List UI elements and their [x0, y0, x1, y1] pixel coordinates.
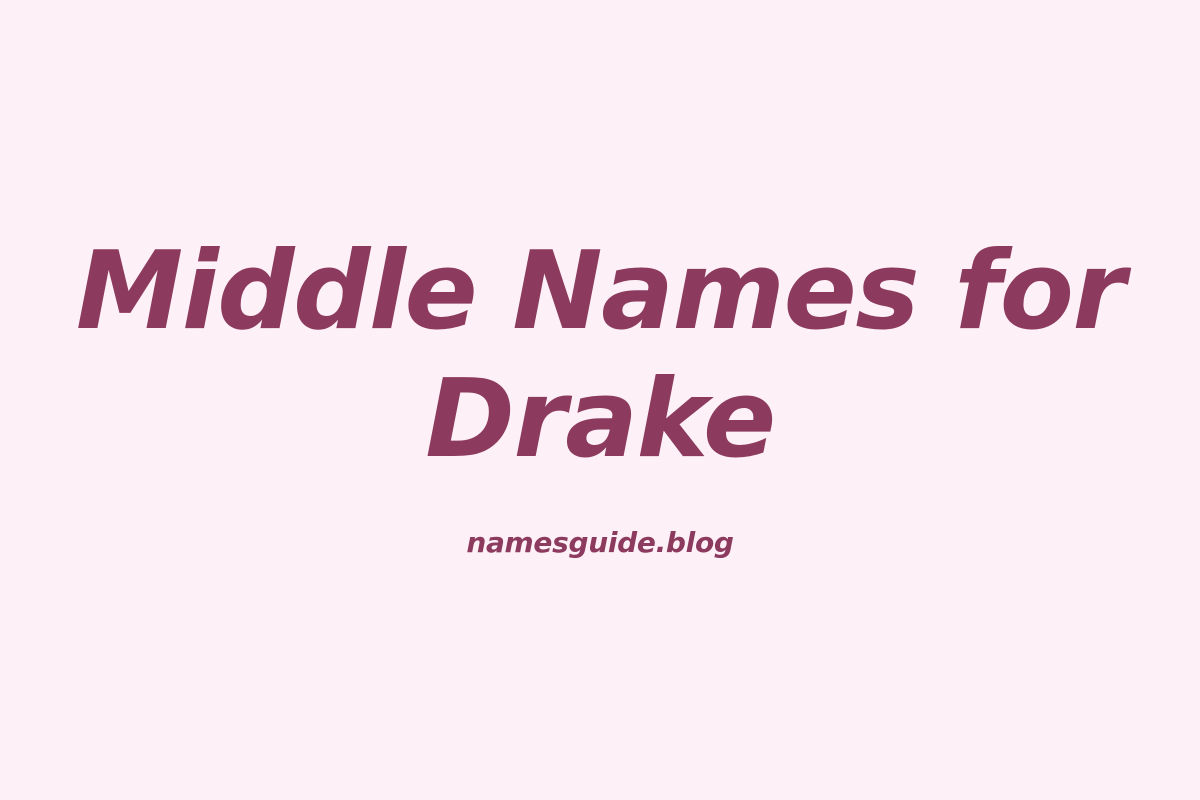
hero-title-block: Middle Names for Drake: [0, 0, 1200, 484]
share-card-canvas: Middle Names for Drake namesguide.blog: [0, 0, 1200, 800]
page-title: Middle Names for Drake: [0, 228, 1200, 484]
site-credit-label: namesguide.blog: [0, 524, 1200, 562]
site-credit-block: namesguide.blog: [0, 524, 1200, 562]
